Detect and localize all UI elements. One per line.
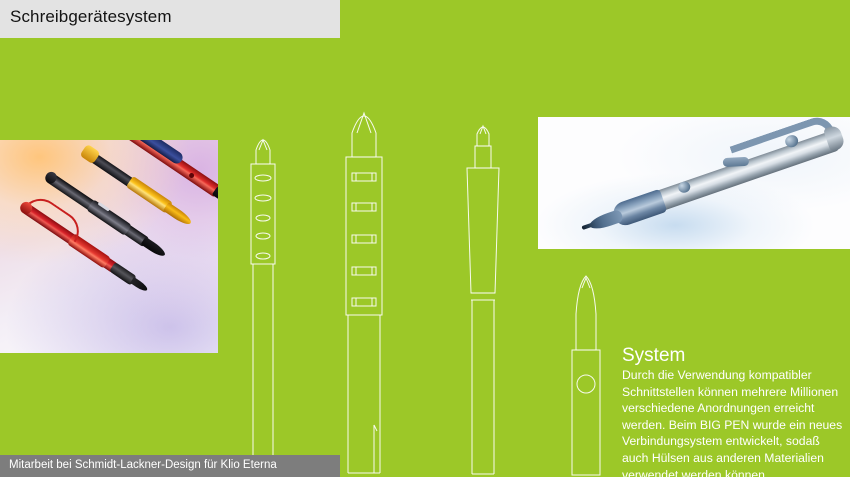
footer-credit-text: Mitarbeit bei Schmidt-Lackner-Design für… (9, 459, 277, 471)
title-bar: Schreibgerätesystem (0, 0, 340, 38)
photo-pens (0, 140, 218, 353)
lineart-pen-tapered (455, 118, 511, 477)
footer-bar: Mitarbeit bei Schmidt-Lackner-Design für… (0, 455, 340, 477)
system-text-block: System Durch die Verwendung kompatibler … (622, 345, 844, 477)
system-body-text: Durch die Verwendung kompatibler Schnitt… (622, 367, 844, 477)
page-title: Schreibgerätesystem (10, 7, 172, 27)
slide-canvas: Schreibgerätesystem Mitarbeit bei Schmid… (0, 0, 850, 477)
system-heading: System (622, 345, 844, 366)
photo-metal-pen (538, 117, 850, 249)
lineart-pen-band-grip (336, 95, 396, 477)
lineart-pen-bullet-tip (560, 272, 616, 477)
lineart-pen-oval-grip (238, 128, 288, 477)
